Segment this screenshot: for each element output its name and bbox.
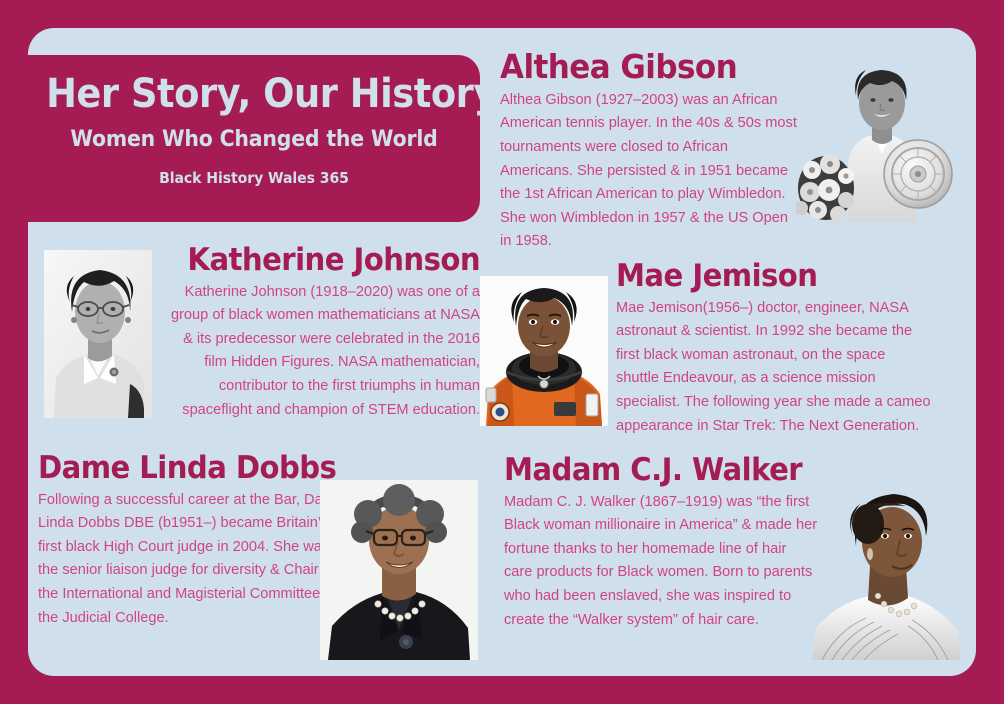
profile-dame-linda-dobbs: Dame Linda Dobbs Following a successful … [38, 452, 350, 630]
page-title: Her Story, Our History [46, 71, 462, 117]
page-subtitle: Women Who Changed the World [44, 127, 464, 152]
profile-body-mae-jemison: Mae Jemison(1956–) doctor, engineer, NAS… [616, 297, 932, 439]
madam-cj-walker-photo [808, 480, 968, 660]
title-block: Her Story, Our History Women Who Changed… [28, 55, 480, 222]
profile-body-althea-gibson: Althea Gibson (1927–2003) was an African… [500, 89, 800, 254]
profile-name-althea-gibson: Althea Gibson [500, 50, 782, 85]
althea-gibson-photo [796, 50, 954, 222]
mae-jemison-photo [480, 276, 608, 426]
profile-name-mae-jemison: Mae Jemison [616, 260, 913, 293]
profile-name-dame-linda-dobbs: Dame Linda Dobbs [38, 452, 331, 485]
profile-katherine-johnson: Katherine Johnson Katherine Johnson (191… [168, 244, 480, 422]
profile-body-katherine-johnson: Katherine Johnson (1918–2020) was one of… [168, 281, 480, 423]
profile-madam-cj-walker: Madam C.J. Walker Madam C. J. Walker (18… [504, 454, 818, 632]
page-tagline: Black History Wales 365 [42, 169, 467, 187]
poster-card: Her Story, Our History Women Who Changed… [28, 28, 976, 676]
poster-root: Her Story, Our History Women Who Changed… [0, 0, 1004, 704]
profile-mae-jemison: Mae Jemison Mae Jemison(1956–) doctor, e… [616, 260, 932, 438]
katherine-johnson-photo [44, 250, 152, 418]
profile-althea-gibson: Althea Gibson Althea Gibson (1927–2003) … [500, 50, 800, 254]
profile-body-madam-cj-walker: Madam C. J. Walker (1867–1919) was “the … [504, 491, 818, 633]
profile-body-dame-linda-dobbs: Following a successful career at the Bar… [38, 489, 350, 631]
dame-linda-dobbs-photo [320, 480, 478, 660]
profile-name-katherine-johnson: Katherine Johnson [187, 244, 480, 277]
profile-name-madam-cj-walker: Madam C.J. Walker [504, 454, 799, 487]
